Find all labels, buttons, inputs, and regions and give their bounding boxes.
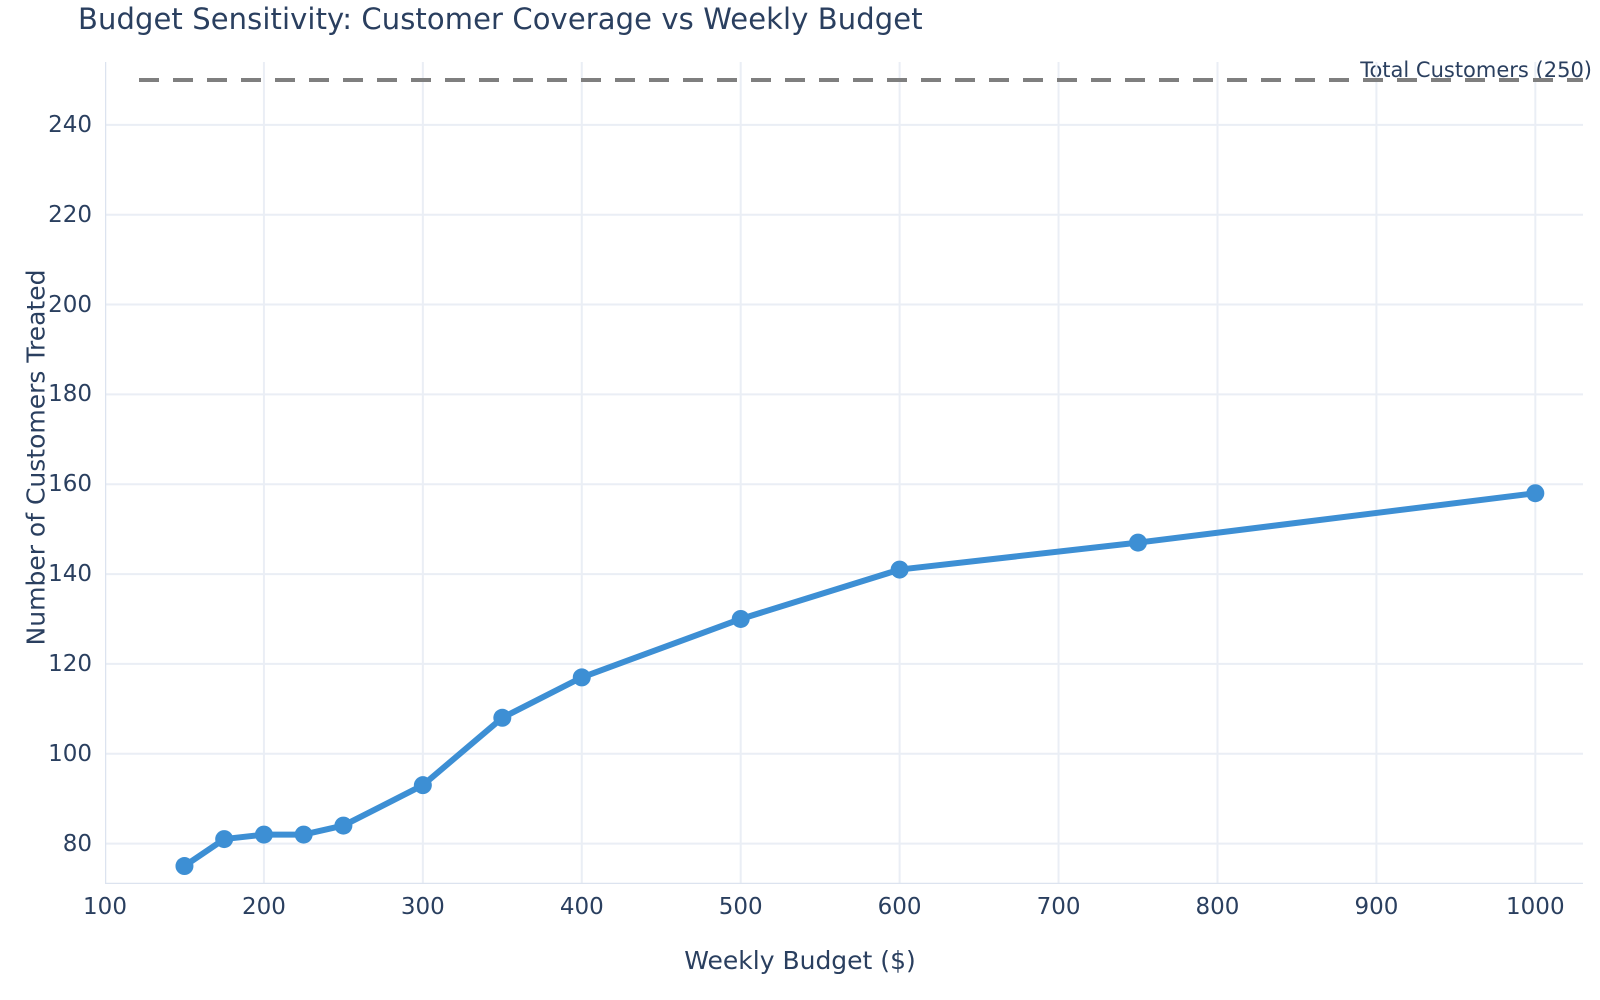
- x-axis-tick-label: 300: [401, 894, 445, 920]
- y-axis-title: Number of Customers Treated: [22, 78, 51, 838]
- x-axis-tick-label: 900: [1354, 894, 1398, 920]
- plot-area: [105, 62, 1583, 884]
- data-point-marker: [732, 610, 750, 628]
- x-axis-tick-labels: 1002003004005006007008009001000: [105, 894, 1583, 934]
- y-axis-tick-label: 120: [48, 651, 92, 677]
- plot-svg: [105, 62, 1583, 884]
- data-point-marker: [414, 776, 432, 794]
- data-point-markers: [175, 484, 1544, 875]
- y-axis-tick-label: 200: [48, 292, 92, 318]
- chart-figure: Budget Sensitivity: Customer Coverage vs…: [0, 0, 1600, 1000]
- data-point-marker: [295, 826, 313, 844]
- data-point-marker: [493, 709, 511, 727]
- x-axis-tick-label: 600: [878, 894, 922, 920]
- x-axis-tick-label: 100: [83, 894, 127, 920]
- data-point-marker: [215, 830, 233, 848]
- y-axis-tick-label: 180: [48, 381, 92, 407]
- series-line-customers-treated: [184, 493, 1535, 866]
- y-axis-tick-label: 160: [48, 471, 92, 497]
- x-axis-tick-label: 700: [1037, 894, 1081, 920]
- data-point-marker: [1129, 534, 1147, 552]
- x-axis-tick-label: 1000: [1506, 894, 1565, 920]
- data-series-line: [184, 493, 1535, 866]
- gridlines: [105, 62, 1583, 884]
- data-point-marker: [175, 857, 193, 875]
- chart-title: Budget Sensitivity: Customer Coverage vs…: [78, 2, 923, 36]
- y-axis-tick-label: 100: [48, 741, 92, 767]
- x-axis-title: Weekly Budget ($): [0, 946, 1600, 975]
- data-point-marker: [334, 817, 352, 835]
- y-axis-tick-label: 140: [48, 561, 92, 587]
- data-point-marker: [1526, 484, 1544, 502]
- y-axis-tick-label: 80: [63, 831, 92, 857]
- y-axis-tick-label: 220: [48, 202, 92, 228]
- x-axis-tick-label: 400: [560, 894, 604, 920]
- x-axis-tick-label: 200: [242, 894, 286, 920]
- axis-spines: [105, 62, 1583, 884]
- data-point-marker: [255, 826, 273, 844]
- x-axis-tick-label: 500: [719, 894, 763, 920]
- x-axis-tick-label: 800: [1196, 894, 1240, 920]
- data-point-marker: [573, 668, 591, 686]
- data-point-marker: [891, 561, 909, 579]
- y-axis-tick-label: 240: [48, 112, 92, 138]
